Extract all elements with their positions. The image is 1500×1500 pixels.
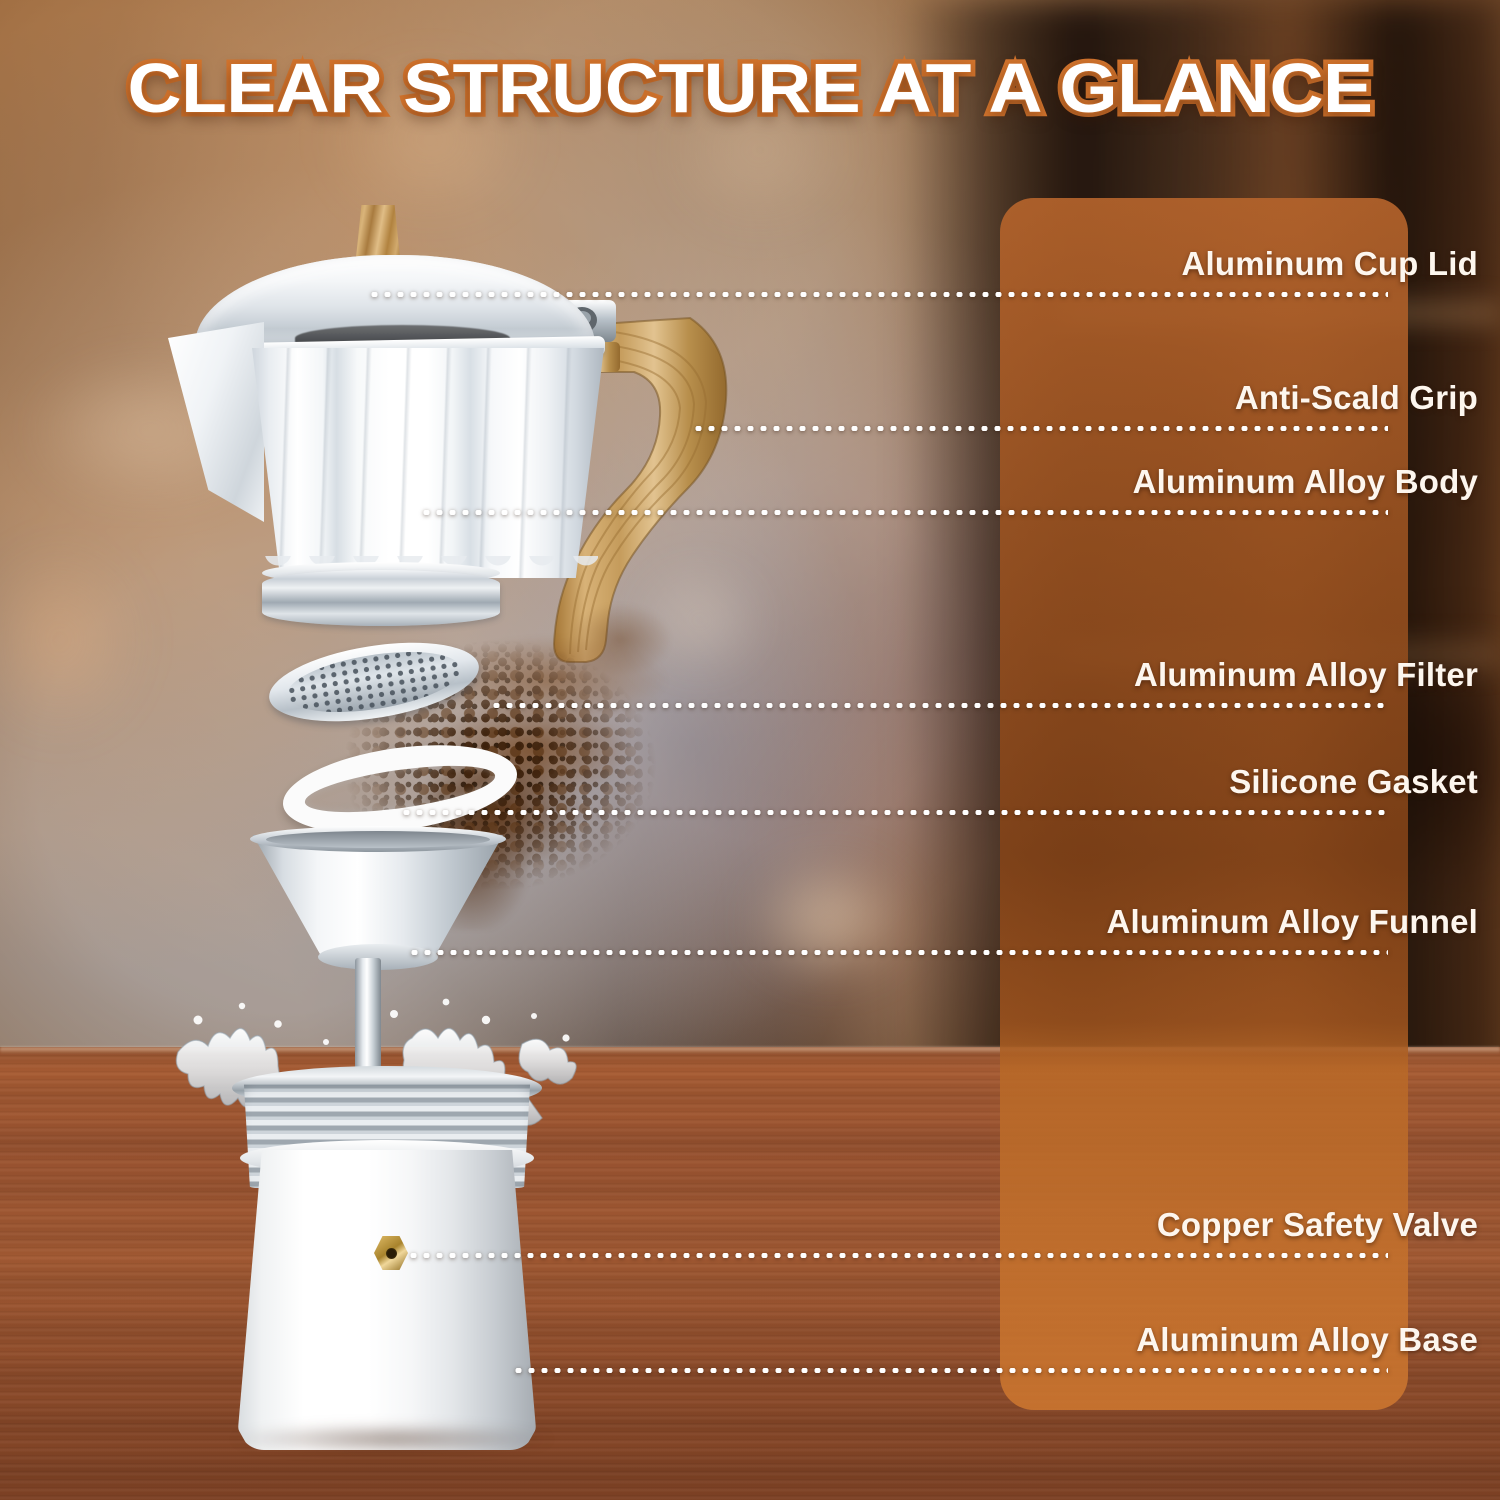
infographic-canvas: CLEAR STRUCTURE AT A GLANCE Aluminum Cup… (0, 0, 1500, 1500)
callout-leader-line (512, 1368, 1388, 1373)
callout-label: Aluminum Alloy Filter (1134, 656, 1478, 694)
callout-label: Aluminum Alloy Base (1136, 1321, 1478, 1359)
callout-leader-line (400, 810, 1388, 815)
callout-label: Copper Safety Valve (1157, 1206, 1478, 1244)
callout-leader-line (490, 703, 1388, 708)
callout-leader-line (407, 1253, 1388, 1258)
callout-label: Aluminum Alloy Funnel (1107, 903, 1478, 941)
callout-leader-line (420, 510, 1388, 515)
page-title: CLEAR STRUCTURE AT A GLANCE (0, 48, 1500, 128)
callout-leader-line (368, 292, 1388, 297)
callout-label: Aluminum Cup Lid (1182, 245, 1479, 283)
callout-leader-line (692, 426, 1388, 431)
callout-label: Silicone Gasket (1229, 763, 1478, 801)
callout-label: Aluminum Alloy Body (1133, 463, 1478, 501)
callout-leader-line (408, 950, 1388, 955)
callout-label: Anti-Scald Grip (1235, 379, 1478, 417)
